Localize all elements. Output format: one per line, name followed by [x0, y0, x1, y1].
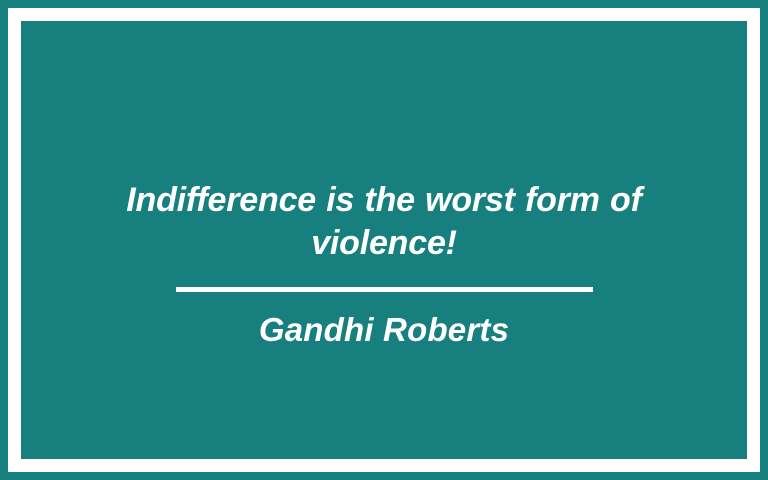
- quote-author: Gandhi Roberts: [259, 310, 509, 350]
- card-white-frame: Indifference is the worst form of violen…: [8, 8, 760, 472]
- quote-card: Indifference is the worst form of violen…: [0, 0, 768, 480]
- quote-block: Indifference is the worst form of violen…: [21, 179, 747, 350]
- quote-text: Indifference is the worst form of violen…: [124, 179, 644, 265]
- card-inner-panel: Indifference is the worst form of violen…: [21, 21, 747, 459]
- quote-divider: [176, 287, 593, 292]
